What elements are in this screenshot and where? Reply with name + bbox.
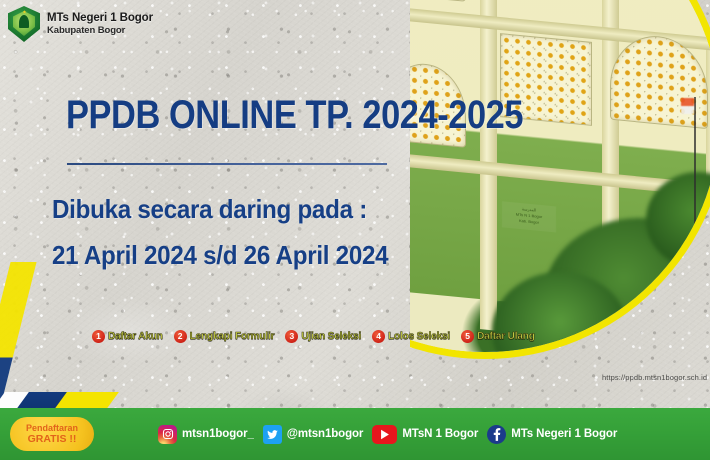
instagram-icon (158, 425, 177, 444)
logo-dome-shape (19, 15, 29, 28)
free-registration-badge: Pendaftaran GRATIS !! (10, 417, 94, 451)
subtitle-line-2: 21 April 2024 s/d 26 April 2024 (52, 240, 388, 271)
step-label: Ujian Seleksi (301, 331, 361, 342)
instagram-handle: mtsn1bogor_ (182, 428, 254, 440)
school-photo: المدرسةMTs N 1 BogorKab. Bogor (410, 0, 710, 420)
step-number-badge: 5 (461, 330, 474, 343)
school-name: MTs Negeri 1 Bogor (47, 12, 153, 25)
school-identity: MTs Negeri 1 Bogor Kabupaten Bogor (47, 12, 153, 36)
twitter-icon (263, 425, 282, 444)
subtitle-line-1: Dibuka secara daring pada : (52, 194, 367, 225)
step-number-badge: 2 (174, 330, 187, 343)
social-youtube[interactable]: MTsN 1 Bogor (372, 425, 478, 444)
step-item: 2 Lengkapi Formulir (174, 330, 275, 343)
banner-header: MTs Negeri 1 Bogor Kabupaten Bogor (8, 6, 153, 42)
youtube-icon (372, 425, 397, 444)
badge-line-1: Pendaftaran (26, 423, 78, 433)
school-region: Kabupaten Bogor (47, 25, 153, 36)
step-item: 1 Daftar Akun (92, 330, 163, 343)
flag-pole (694, 97, 696, 247)
registration-steps: 1 Daftar Akun 2 Lengkapi Formulir 3 Ujia… (92, 330, 535, 343)
social-links: mtsn1bogor_ @mtsn1bogor MTsN 1 Bogor (158, 408, 617, 460)
school-photo-clip: المدرسةMTs N 1 BogorKab. Bogor (410, 0, 710, 352)
social-twitter[interactable]: @mtsn1bogor (263, 425, 364, 444)
building-signboard: المدرسةMTs N 1 BogorKab. Bogor (502, 201, 556, 232)
step-item: 3 Ujian Seleksi (285, 330, 361, 343)
page-title: PPDB ONLINE TP. 2024-2025 (66, 93, 523, 138)
social-instagram[interactable]: mtsn1bogor_ (158, 425, 254, 444)
step-label: Daftar Akun (108, 331, 163, 342)
arched-window (410, 0, 466, 2)
facebook-icon (487, 425, 506, 444)
indonesian-flag (681, 98, 694, 114)
title-divider (67, 163, 387, 165)
twitter-handle: @mtsn1bogor (287, 428, 364, 440)
step-number-badge: 3 (285, 330, 298, 343)
badge-line-2: GRATIS !! (28, 433, 77, 445)
youtube-handle: MTsN 1 Bogor (402, 428, 478, 440)
madrasah-shield-logo-icon (8, 6, 40, 42)
step-number-badge: 4 (372, 330, 385, 343)
step-item: 4 Lolos Seleksi (372, 330, 450, 343)
footer-bar: Pendaftaran GRATIS !! mtsn1bogor_ (0, 408, 710, 460)
ppdb-banner: المدرسةMTs N 1 BogorKab. Bogor MTs Neger… (0, 0, 710, 460)
website-url[interactable]: https://ppdb.mtsn1bogor.sch.id (602, 373, 707, 382)
step-label: Lengkapi Formulir (190, 331, 275, 342)
social-facebook[interactable]: MTs Negeri 1 Bogor (487, 425, 617, 444)
step-label: Lolos Seleksi (388, 331, 450, 342)
school-photo-image: المدرسةMTs N 1 BogorKab. Bogor (410, 0, 710, 352)
facebook-handle: MTs Negeri 1 Bogor (511, 428, 617, 440)
step-number-badge: 1 (92, 330, 105, 343)
step-label: Daftar Ulang (477, 331, 535, 342)
step-item: 5 Daftar Ulang (461, 330, 535, 343)
